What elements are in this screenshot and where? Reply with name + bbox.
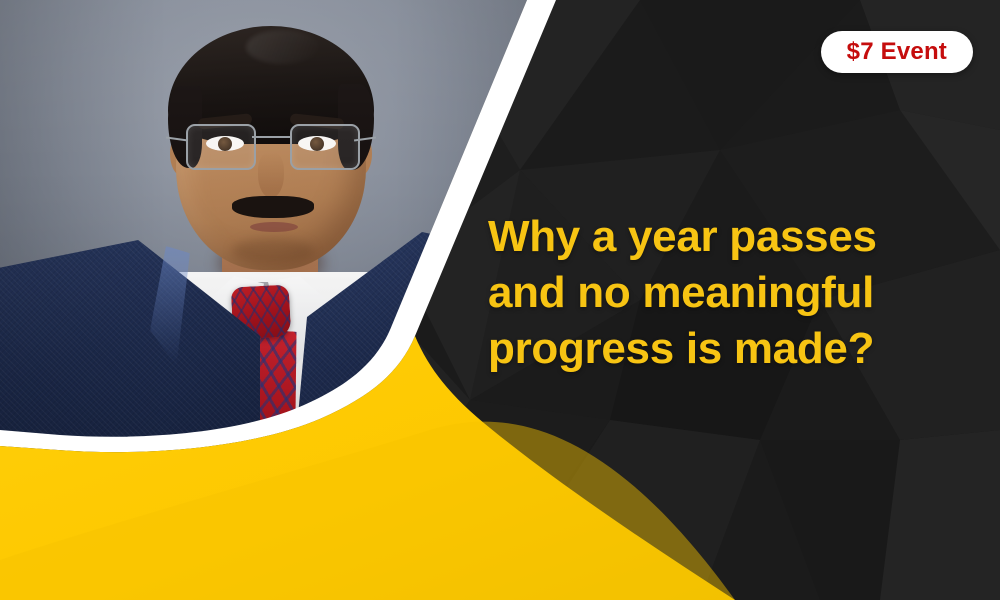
- event-price-badge[interactable]: $7 Event: [821, 31, 973, 73]
- page-title: Why a year passes and no meaningful prog…: [488, 209, 958, 377]
- promo-banner: $7 Event Why a year passes and no meanin…: [0, 0, 1000, 600]
- headline-line-2: and no meaningful: [488, 265, 958, 321]
- headline-line-3: progress is made?: [488, 321, 958, 377]
- headline-line-1: Why a year passes: [488, 209, 958, 265]
